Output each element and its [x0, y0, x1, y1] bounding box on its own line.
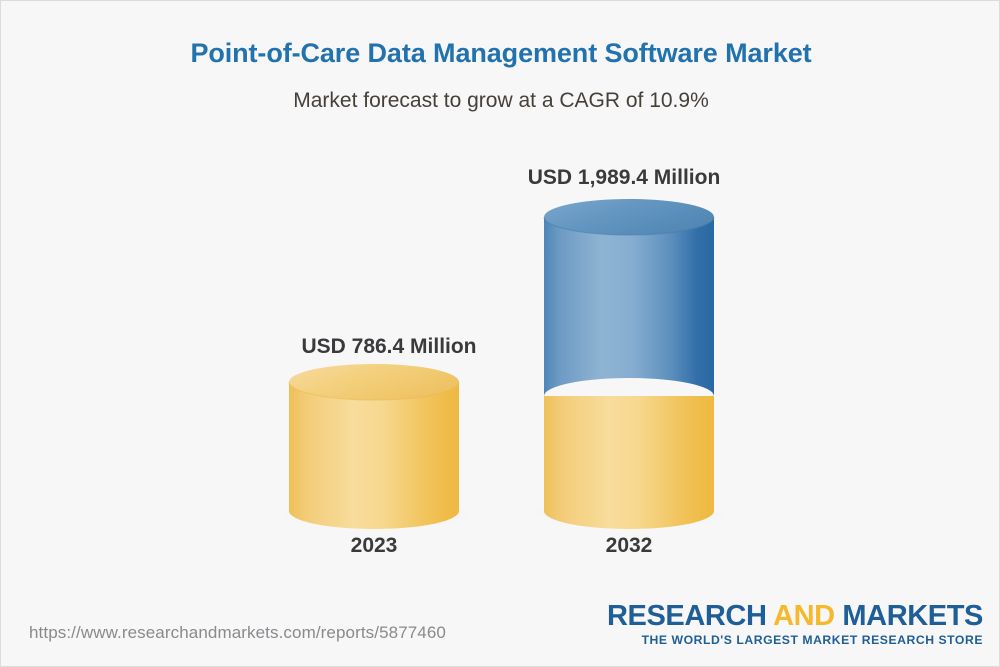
bar-2032[interactable]: [544, 199, 714, 529]
report-url[interactable]: https://www.researchandmarkets.com/repor…: [29, 623, 446, 643]
research-and-markets-logo[interactable]: RESEARCH AND MARKETS THE WORLD'S LARGEST…: [607, 601, 983, 649]
bar-2023[interactable]: [289, 364, 459, 529]
logo-tagline: THE WORLD'S LARGEST MARKET RESEARCH STOR…: [607, 633, 983, 649]
axis-label-2032: 2032: [529, 534, 729, 558]
chart-canvas: Point-of-Care Data Management Software M…: [0, 0, 1000, 667]
logo-word-markets: MARKETS: [842, 600, 983, 632]
value-label-2032: USD 1,989.4 Million: [484, 166, 764, 190]
logo-word-and: AND: [773, 600, 835, 632]
logo-word-research: RESEARCH: [607, 600, 767, 632]
axis-label-2023: 2023: [274, 534, 474, 558]
cylinder-chart-graphics: [1, 1, 1000, 667]
logo-wordmark: RESEARCH AND MARKETS: [607, 601, 983, 631]
value-label-2023: USD 786.4 Million: [249, 335, 529, 359]
